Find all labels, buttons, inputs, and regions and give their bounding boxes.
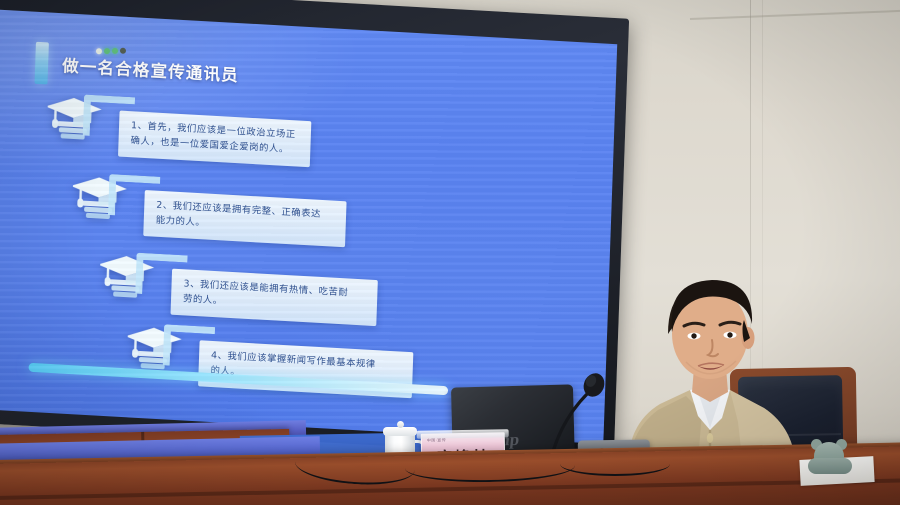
nameplate-stand — [417, 429, 509, 439]
indicator-light-off — [120, 48, 126, 54]
title-accent-bar — [34, 42, 48, 85]
slide-title-row: 做一名合格宣传通讯员 — [34, 42, 239, 95]
cup-lid — [383, 427, 417, 436]
bullet-text-box: 1、首先，我们应该是一位政治立场正 确人，也是一位爱国爱企爱岗的人。 — [118, 111, 311, 168]
bullet-text: 3、我们还应该是能拥有热情、吃苦耐 劳的人。 — [183, 276, 366, 316]
plush-body — [808, 458, 852, 474]
slide-bullet-list: 1、首先，我们应该是一位政治立场正 确人，也是一位爱国爱企爱岗的人。 — [0, 86, 615, 122]
bullet-text: 2、我们还应该是拥有完整、正确表达 能力的人。 — [156, 198, 335, 238]
plush-toy[interactable] — [808, 438, 852, 474]
bullet-text-box: 3、我们还应该是能拥有热情、吃苦耐 劳的人。 — [171, 269, 378, 326]
bullet-text: 1、首先，我们应该是一位政治立场正 确人，也是一位爱国爱企爱岗的人。 — [130, 118, 299, 157]
indicator-light-green — [104, 48, 110, 54]
indicator-lights — [96, 48, 126, 55]
bullet-item: 3、我们还应该是能拥有热情、吃苦耐 劳的人。 — [99, 249, 379, 326]
bullet-text-box: 2、我们还应该是拥有完整、正确表达 能力的人。 — [143, 190, 346, 247]
bullet-item: 2、我们还应该是拥有完整、正确表达 能力的人。 — [71, 170, 347, 247]
indicator-light-green — [112, 48, 118, 54]
indicator-light-white — [96, 48, 102, 54]
cup-lid-knob — [397, 421, 404, 428]
presentation-slide: 做一名合格宣传通讯员 — [0, 9, 617, 444]
bullet-item: 1、首先，我们应该是一位政治立场正 确人，也是一位爱国爱企爱岗的人。 — [46, 91, 312, 168]
slide-title: 做一名合格宣传通讯员 — [62, 52, 240, 86]
screenshot-stage: 做一名合格宣传通讯员 — [0, 0, 900, 505]
screen-panel: 做一名合格宣传通讯员 — [0, 9, 617, 444]
